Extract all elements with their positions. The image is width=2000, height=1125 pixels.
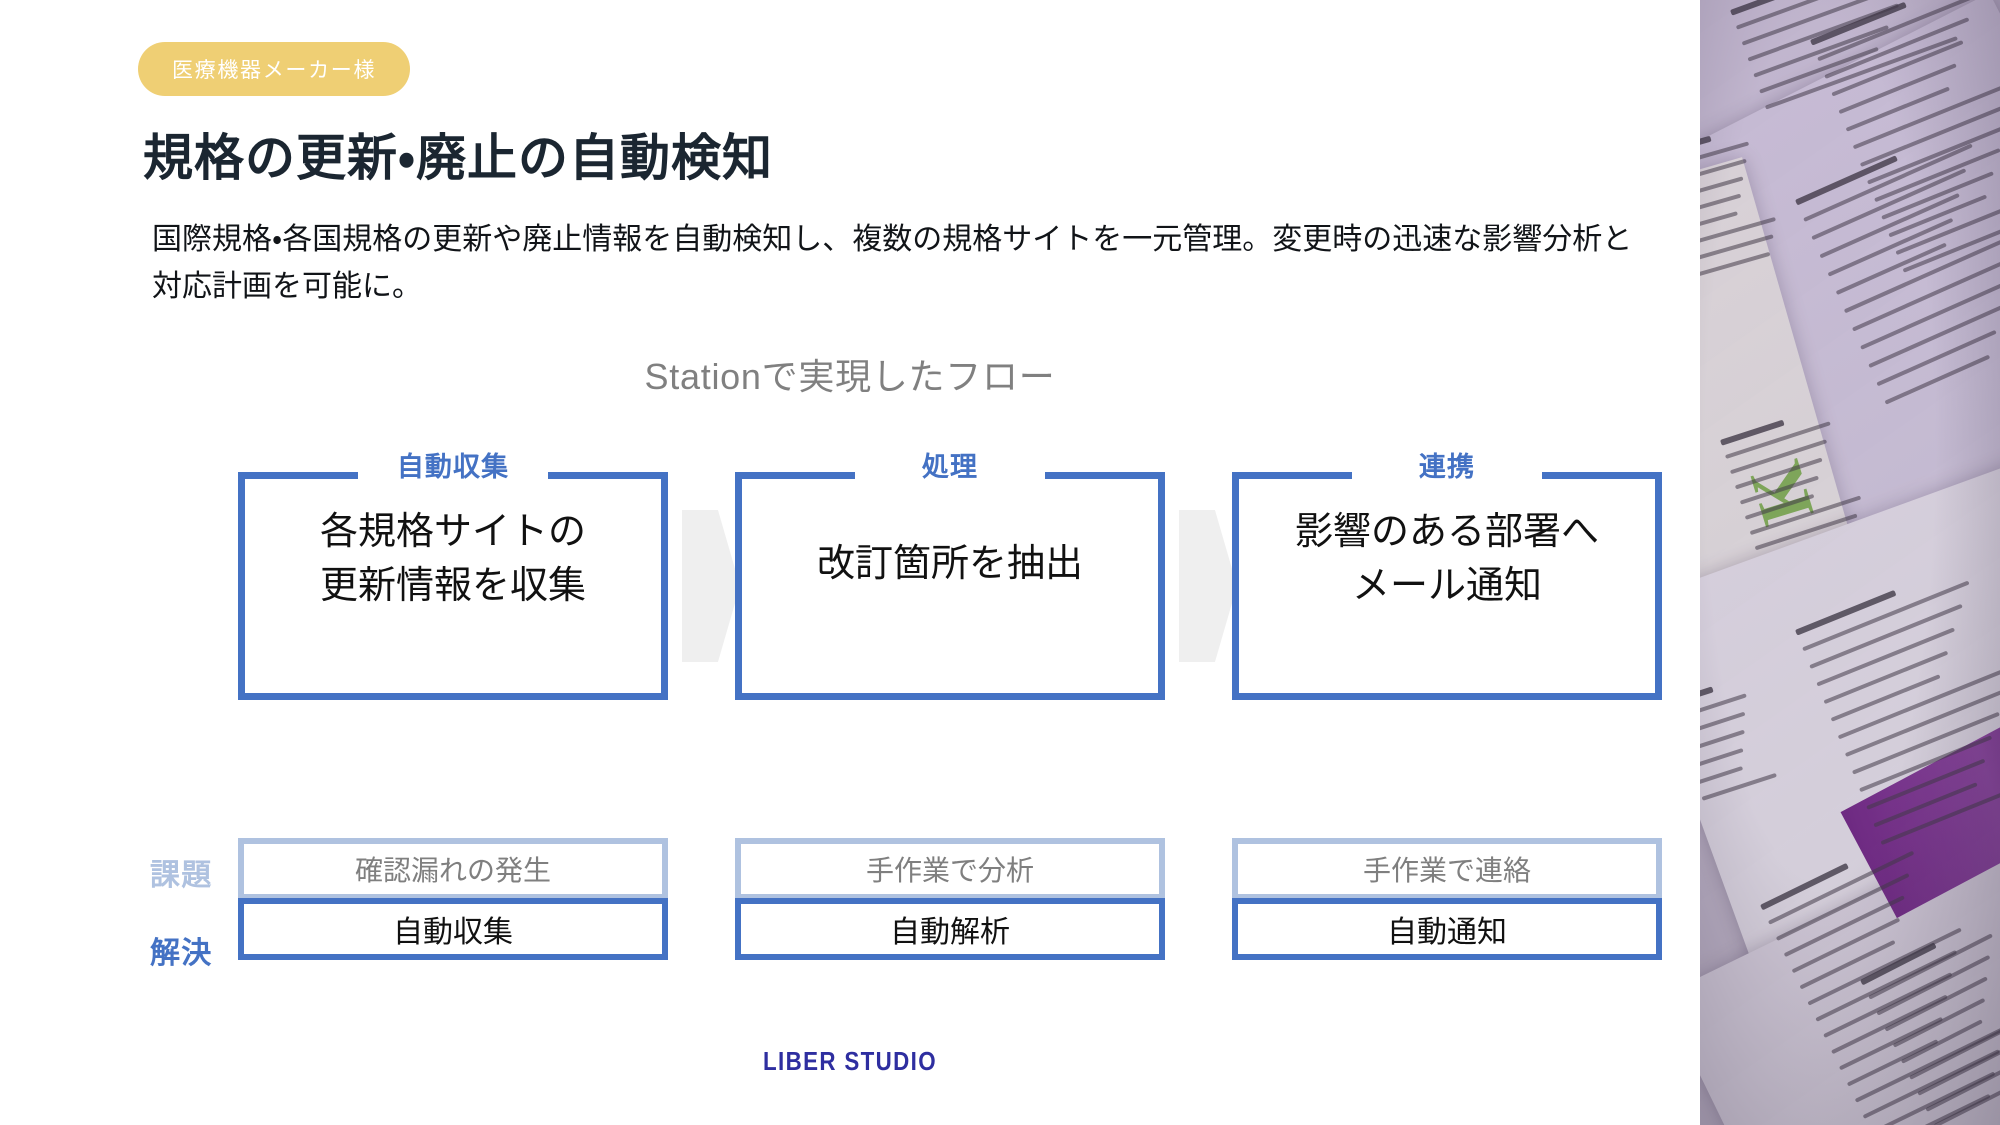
problem-cell-1: 確認漏れの発生: [238, 838, 668, 900]
card-border-left: [238, 472, 245, 700]
flow-step-1: 自動収集 各規格サイトの 更新情報を収集: [238, 472, 668, 700]
audience-badge: 医療機器メーカー様: [138, 42, 410, 96]
flow-step-2: 処理 改訂箇所を抽出: [735, 472, 1165, 700]
card-border-bottom: [238, 693, 668, 700]
photo-vignette: [1700, 0, 2000, 1125]
card-border-bottom: [1232, 693, 1662, 700]
problem-cell-3: 手作業で連絡: [1232, 838, 1662, 900]
row-label-problem: 課題: [150, 850, 242, 894]
decorative-photo: K: [1700, 0, 2000, 1125]
flow-step-3-body: 影響のある部署へ メール通知: [1248, 506, 1646, 614]
flow-arrow-icon-2: [1179, 510, 1237, 662]
problem-solution-table: 課題 解決 確認漏れの発生 自動収集 手作業で分析 自動解析 手作業で連絡 自動…: [150, 810, 1670, 990]
flow-arrow-icon-1: [682, 510, 740, 662]
card-border-left: [735, 472, 742, 700]
card-border-right: [1158, 472, 1165, 700]
flow-section-heading: Stationで実現したフロー: [0, 348, 1700, 400]
flow-step-2-label: 処理: [735, 445, 1165, 484]
card-border-left: [1232, 472, 1239, 700]
brand-logo: LIBER STUDIO: [119, 1046, 1581, 1077]
flow-step-2-body: 改訂箇所を抽出: [751, 538, 1149, 592]
flow-step-1-line2: 更新情報を収集: [254, 560, 652, 614]
card-border-right: [661, 472, 668, 700]
flow-step-3-label: 連携: [1232, 445, 1662, 484]
slide-description: 国際規格・各国規格の更新や廃止情報を自動検知し、複数の規格サイトを一元管理。変更…: [152, 216, 1652, 311]
flow-step-1-body: 各規格サイトの 更新情報を収集: [254, 506, 652, 614]
slide-content: 医療機器メーカー様 規格の更新・廃止の自動検知 国際規格・各国規格の更新や廃止情…: [0, 0, 1700, 1125]
row-label-solution: 解決: [150, 928, 242, 972]
card-border-bottom: [735, 693, 1165, 700]
card-border-right: [1655, 472, 1662, 700]
page-title: 規格の更新・廃止の自動検知: [143, 118, 773, 190]
solution-cell-2: 自動解析: [735, 898, 1165, 960]
flow-step-3: 連携 影響のある部署へ メール通知: [1232, 472, 1662, 700]
solution-cell-1: 自動収集: [238, 898, 668, 960]
flow-step-1-label: 自動収集: [238, 445, 668, 484]
flow-step-1-line1: 各規格サイトの: [254, 506, 652, 560]
problem-cell-2: 手作業で分析: [735, 838, 1165, 900]
flow-step-3-line1: 影響のある部署へ: [1248, 506, 1646, 560]
flow-diagram: 自動収集 各規格サイトの 更新情報を収集 処理 改訂箇所を抽出: [238, 472, 1668, 712]
solution-cell-3: 自動通知: [1232, 898, 1662, 960]
flow-step-2-line1: 改訂箇所を抽出: [751, 538, 1149, 592]
flow-step-3-line2: メール通知: [1248, 560, 1646, 614]
